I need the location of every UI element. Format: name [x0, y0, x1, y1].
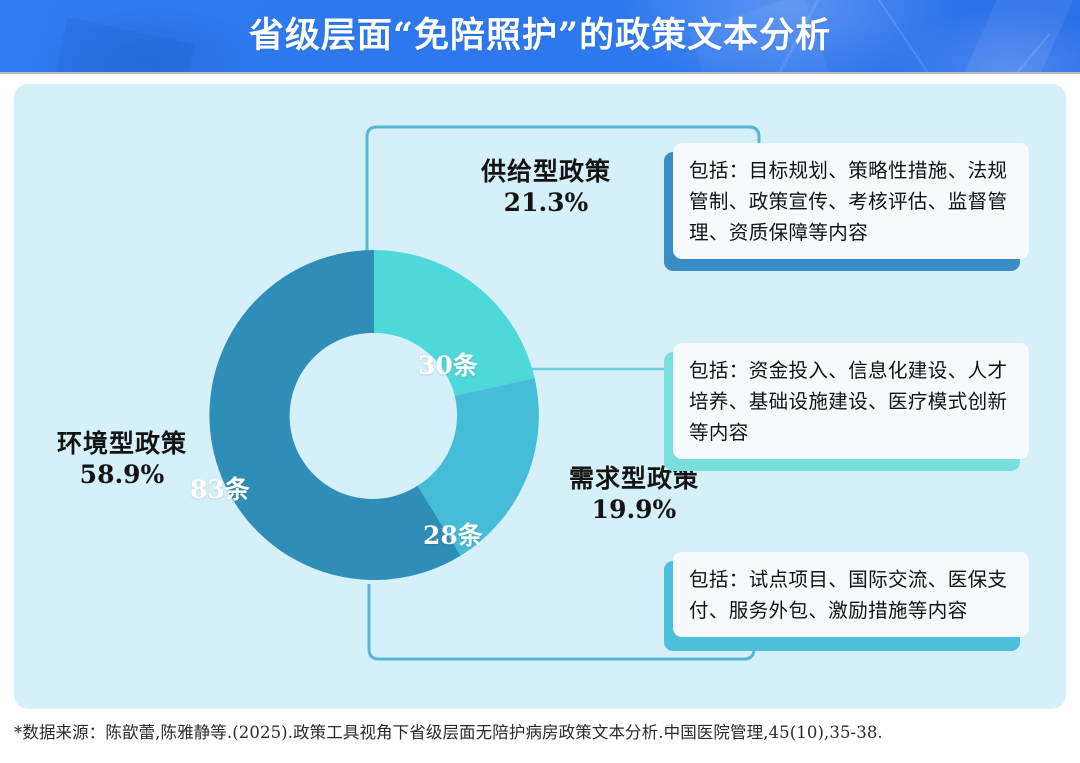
chart-panel: 30条 83条 28条 供给型政策 21.3% 环境型政策 58.9% 需求型政… — [14, 84, 1066, 709]
category-percent-demand: 19.9% — [534, 494, 734, 526]
category-percent-supply: 21.3% — [446, 187, 646, 219]
category-label-environment: 环境型政策 58.9% — [22, 429, 222, 491]
header-divider — [0, 72, 1080, 74]
donut-chart — [204, 245, 544, 585]
slice-count-supply: 30条 — [418, 346, 478, 382]
page-title: 省级层面“免陪照护”的政策文本分析 — [0, 0, 1080, 72]
category-percent-environment: 58.9% — [22, 459, 222, 491]
category-label-demand: 需求型政策 19.9% — [534, 464, 734, 526]
data-source-note: *数据来源：陈歆蕾,陈雅静等.(2025).政策工具视角下省级层面无陪护病房政策… — [14, 722, 1070, 744]
category-name-environment: 环境型政策 — [22, 429, 222, 459]
category-name-supply: 供给型政策 — [446, 157, 646, 187]
callout-demand: 包括：资金投入、信息化建设、人才培养、基础设施建设、医疗模式创新等内容 — [673, 343, 1029, 459]
callout-supply: 包括：目标规划、策略性措施、法规管制、政策宣传、考核评估、监督管理、资质保障等内… — [673, 143, 1029, 259]
slice-count-demand: 28条 — [423, 516, 483, 552]
category-label-supply: 供给型政策 21.3% — [446, 157, 646, 219]
callout-environment: 包括：试点项目、国际交流、医保支付、服务外包、激励措施等内容 — [673, 552, 1029, 637]
